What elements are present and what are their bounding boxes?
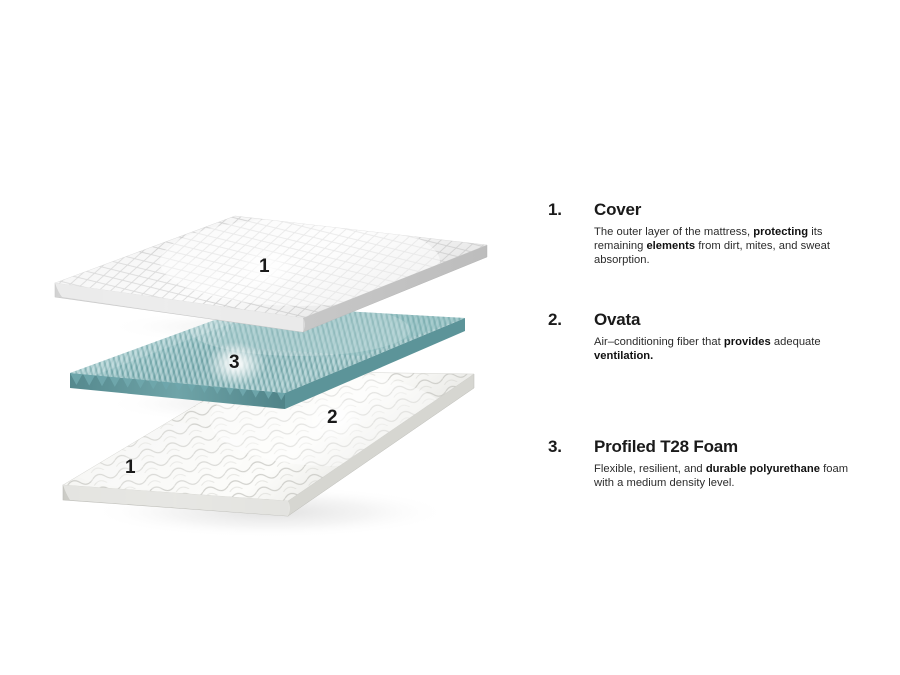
entry-body-1: Cover The outer layer of the mattress, p… [594, 200, 868, 268]
entry-desc-cover: The outer layer of the mattress, protect… [594, 225, 868, 268]
entry-body-3: Profiled T28 Foam Flexible, resilient, a… [594, 437, 868, 490]
entry-desc-profiled-foam: Flexible, resilient, and durable polyure… [594, 462, 868, 490]
layer-descriptions: 1. Cover The outer layer of the mattress… [548, 0, 888, 675]
entry-title-profiled-foam: Profiled T28 Foam [594, 437, 868, 457]
entry-number-2: 2. [548, 310, 588, 330]
entry-number-1: 1. [548, 200, 588, 220]
entry-title-cover: Cover [594, 200, 868, 220]
mattress-exploded-illustration: 1 3 2 1 [0, 0, 520, 675]
badge-base-2: 2 [327, 408, 338, 427]
entry-number-3: 3. [548, 437, 588, 457]
entry-title-ovata: Ovata [594, 310, 868, 330]
mattress-layers-infographic: 1 3 2 1 1. Cover The outer layer of the … [0, 0, 900, 675]
badge-ovata-3: 3 [229, 353, 240, 372]
badge-cover-1: 1 [259, 257, 270, 276]
entry-body-2: Ovata Air–conditioning fiber that provid… [594, 310, 868, 363]
entry-desc-ovata: Air–conditioning fiber that provides ade… [594, 335, 868, 363]
badge-base-1: 1 [125, 458, 136, 477]
